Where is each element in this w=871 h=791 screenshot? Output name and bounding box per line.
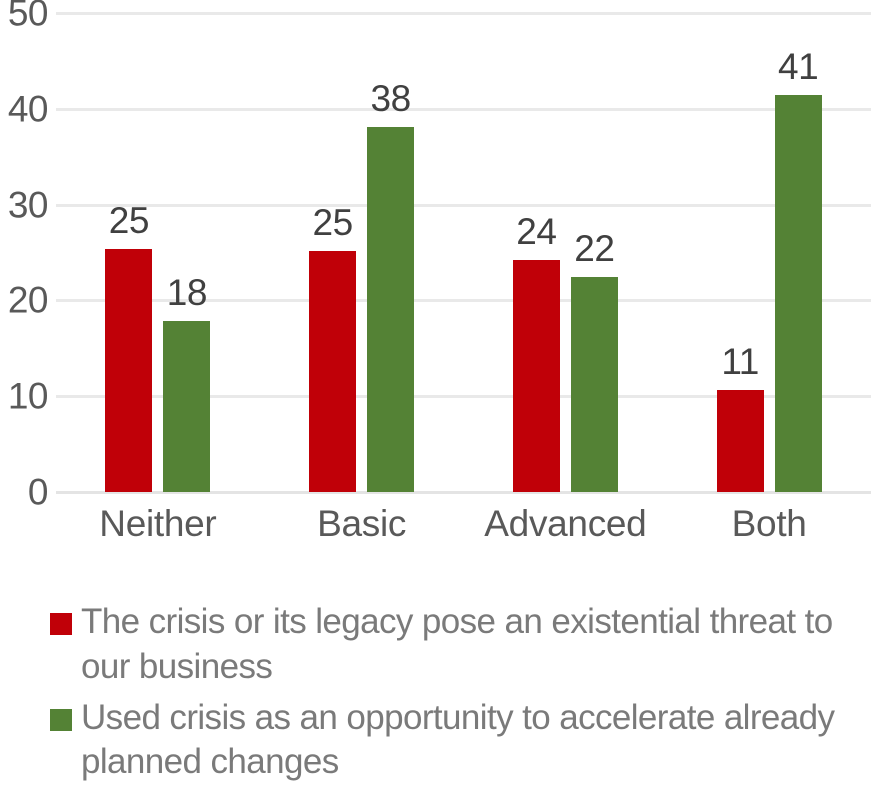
bar-value-label: 11 xyxy=(721,343,758,380)
x-axis-category-label: Basic xyxy=(317,505,406,542)
legend-item-label: Used crisis as an opportunity to acceler… xyxy=(81,696,862,786)
bar-value-label: 38 xyxy=(371,80,411,117)
y-axis-tick-label: 40 xyxy=(8,90,48,127)
legend-item[interactable]: Used crisis as an opportunity to acceler… xyxy=(50,696,862,786)
bar-value-label: 22 xyxy=(574,230,614,267)
y-axis-tick-label: 10 xyxy=(8,378,48,415)
bar-value-label: 18 xyxy=(167,274,207,311)
bar[interactable] xyxy=(571,277,618,492)
legend-item-label: The crisis or its legacy pose an existen… xyxy=(81,600,862,690)
y-axis: 01020304050 xyxy=(0,0,56,580)
x-axis-category-label: Both xyxy=(732,505,807,542)
x-axis-category-label: Neither xyxy=(99,505,216,542)
bar[interactable] xyxy=(105,249,152,492)
bar-chart: 01020304050 2518253824221141 NeitherBasi… xyxy=(0,0,871,779)
y-axis-tick-label: 20 xyxy=(8,282,48,319)
legend-item[interactable]: The crisis or its legacy pose an existen… xyxy=(50,600,862,690)
legend-swatch-green xyxy=(50,709,72,731)
legend-swatch-red xyxy=(50,613,72,635)
x-axis: NeitherBasicAdvancedBoth xyxy=(56,505,871,575)
bars-layer: 2518253824221141 xyxy=(56,0,871,580)
bar-value-label: 41 xyxy=(778,48,818,85)
plot-area: 01020304050 2518253824221141 NeitherBasi… xyxy=(0,0,871,580)
x-axis-category-label: Advanced xyxy=(484,505,646,542)
bar-value-label: 25 xyxy=(109,202,149,239)
y-axis-tick-label: 0 xyxy=(28,474,48,511)
y-axis-tick-label: 50 xyxy=(8,0,48,32)
y-axis-tick-label: 30 xyxy=(8,186,48,223)
bar[interactable] xyxy=(163,321,210,492)
bar[interactable] xyxy=(717,390,764,492)
bar[interactable] xyxy=(513,260,560,492)
bar-value-label: 25 xyxy=(313,204,353,241)
bar[interactable] xyxy=(775,95,822,492)
bar[interactable] xyxy=(367,127,414,492)
bar[interactable] xyxy=(309,251,356,492)
bar-value-label: 24 xyxy=(516,213,556,250)
chart-legend: The crisis or its legacy pose an existen… xyxy=(50,600,862,791)
